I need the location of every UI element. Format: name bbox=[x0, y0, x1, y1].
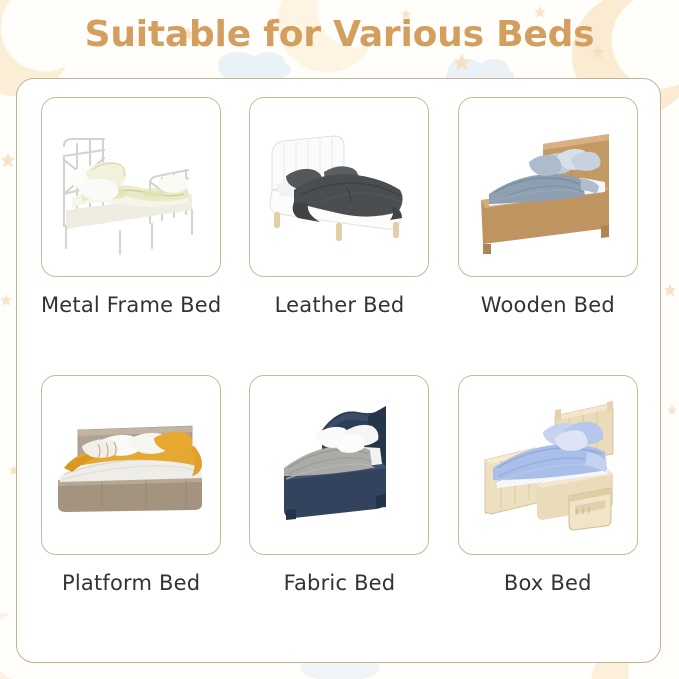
bed-image-card[interactable] bbox=[249, 97, 429, 277]
metal-frame-bed-illustration bbox=[42, 98, 221, 277]
bed-label: Wooden Bed bbox=[481, 293, 615, 317]
bed-image-card[interactable] bbox=[458, 375, 638, 555]
star-icon bbox=[1, 153, 16, 168]
bed-cell-box-bed[interactable]: Box Bed bbox=[444, 375, 652, 653]
bed-label: Metal Frame Bed bbox=[41, 293, 221, 317]
bed-label: Box Bed bbox=[504, 571, 592, 595]
content-frame: Metal Frame Bed bbox=[16, 78, 661, 663]
bed-image-card[interactable] bbox=[458, 97, 638, 277]
box-bed-illustration bbox=[459, 376, 638, 555]
bed-label: Leather Bed bbox=[275, 293, 405, 317]
star-icon bbox=[664, 284, 677, 297]
bed-type-grid: Metal Frame Bed bbox=[17, 79, 662, 664]
page-title: Suitable for Various Beds bbox=[0, 14, 679, 55]
bed-cell-metal-frame-bed[interactable]: Metal Frame Bed bbox=[27, 97, 235, 375]
bed-cell-fabric-bed[interactable]: Fabric Bed bbox=[235, 375, 443, 653]
bed-cell-leather-bed[interactable]: Leather Bed bbox=[235, 97, 443, 375]
bed-cell-platform-bed[interactable]: Platform Bed bbox=[27, 375, 235, 653]
star-icon bbox=[667, 405, 677, 415]
wooden-bed-illustration bbox=[459, 98, 638, 277]
platform-bed-illustration bbox=[42, 376, 221, 555]
bed-label: Fabric Bed bbox=[284, 571, 396, 595]
fabric-bed-illustration bbox=[250, 376, 429, 555]
bed-label: Platform Bed bbox=[62, 571, 200, 595]
bed-image-card[interactable] bbox=[249, 375, 429, 555]
leather-bed-illustration bbox=[250, 98, 429, 277]
bed-image-card[interactable] bbox=[41, 375, 221, 555]
bed-cell-wooden-bed[interactable]: Wooden Bed bbox=[444, 97, 652, 375]
star-icon bbox=[0, 294, 12, 306]
star-icon bbox=[453, 53, 471, 71]
bed-image-card[interactable] bbox=[41, 97, 221, 277]
